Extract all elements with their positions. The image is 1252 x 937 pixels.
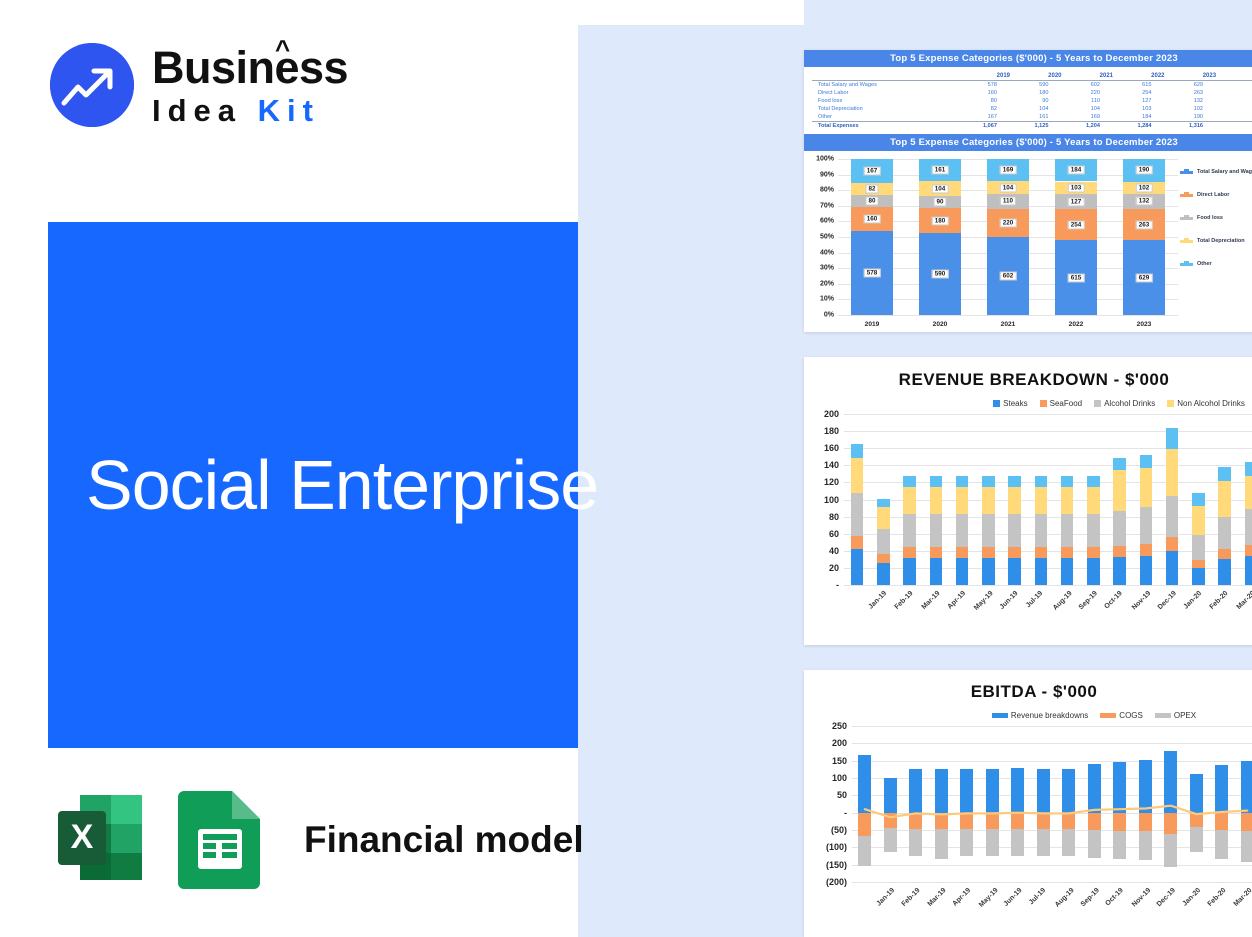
bar-data-label: 629 [1136, 273, 1153, 282]
ebitda-chart-legend: Revenue breakdownsCOGSOPEX [804, 711, 1252, 720]
legend-label: OPEX [1174, 711, 1196, 720]
bar-segment [956, 487, 969, 514]
bar-segment [1245, 462, 1252, 476]
y-axis-tick: 20% [820, 280, 834, 287]
bar-segment [903, 547, 916, 557]
bar-segment [877, 529, 890, 555]
bar-segment [884, 778, 897, 813]
x-axis-tick: Feb-20 [1209, 590, 1230, 611]
bar-data-label: 132 [1136, 197, 1153, 206]
x-axis-tick: Dec-19 [1156, 887, 1177, 908]
legend-swatch [1167, 400, 1174, 407]
x-axis-tick: Mar-20 [1232, 887, 1252, 908]
bar-data-label: 180 [932, 216, 949, 225]
x-axis-tick: Feb-19 [894, 590, 915, 611]
bar-segment [1140, 544, 1153, 556]
bar-segment [877, 563, 890, 585]
bar-segment [1166, 496, 1179, 537]
bar-segment [1218, 559, 1231, 585]
legend-swatch [1180, 240, 1193, 243]
bar-data-label: 167 [864, 167, 881, 176]
google-sheets-icon [176, 785, 268, 894]
table-row: Other 167 161 169 184 190 [812, 113, 1252, 122]
legend-item: SeaFood [1040, 399, 1082, 408]
bar-segment [1035, 547, 1048, 557]
expense-table-title: Top 5 Expense Categories ($'000) - 5 Yea… [804, 50, 1252, 67]
x-axis-tick: 2021 [1001, 321, 1016, 328]
bar-segment [1113, 458, 1126, 470]
revenue-chart-title: REVENUE BREAKDOWN - $'000 [804, 370, 1252, 390]
y-axis-tick: 200 [824, 409, 839, 419]
bar-segment [1011, 829, 1024, 856]
bar-segment [1035, 558, 1048, 585]
poster-canvas: Business ^ Idea Kit Social Enterprise X [0, 0, 1252, 937]
col-2023: 2023 [1165, 72, 1217, 81]
legend-swatch [1180, 171, 1193, 174]
bar-segment [1088, 830, 1101, 858]
x-axis-tick: Oct-19 [1104, 590, 1124, 610]
bar-column: 629263132102190 [1123, 159, 1165, 315]
bar-segment [935, 769, 948, 813]
bar-segment [1192, 560, 1205, 568]
bar-column [1166, 414, 1179, 585]
bar-data-label: 127 [1068, 197, 1085, 206]
bar-segment [1166, 428, 1179, 449]
x-axis-tick: Mar-20 [1235, 590, 1252, 611]
bar-segment [1192, 568, 1205, 585]
page-title: Social Enterprise [48, 445, 598, 525]
bar-data-label: 220 [1000, 218, 1017, 227]
bar-segment [930, 547, 943, 557]
bar-segment [877, 499, 890, 508]
legend-item: Total Salary and Wages [1180, 169, 1252, 175]
x-axis-tick: 2023 [1137, 321, 1152, 328]
y-axis-tick: 0% [824, 312, 834, 319]
x-axis-tick: Sep-19 [1078, 590, 1099, 611]
legend-swatch [1180, 194, 1193, 197]
bar-segment [1037, 813, 1050, 830]
bar-segment [1166, 449, 1179, 496]
bar-segment [956, 514, 969, 547]
bar-segment [851, 458, 864, 493]
bar-segment [930, 558, 943, 585]
bar-data-label: 103 [1068, 183, 1085, 192]
logo-idea-text: Idea [152, 93, 242, 128]
ebitda-line [804, 720, 1252, 926]
ebitda-card: EBITDA - $'000 Revenue breakdownsCOGSOPE… [804, 670, 1252, 937]
x-axis-tick: Jun-19 [1003, 887, 1024, 908]
bar-segment [1190, 774, 1203, 813]
x-axis-tick: Aug-19 [1052, 590, 1074, 612]
svg-text:X: X [71, 818, 94, 856]
bar-segment [858, 755, 871, 812]
logo-kit-text: Kit [258, 93, 320, 128]
bar-data-label: 90 [933, 197, 946, 206]
legend-label: Steaks [1003, 399, 1027, 408]
bar-segment [956, 476, 969, 486]
gridline [844, 585, 1252, 586]
legend-label: Total Depreciation [1197, 238, 1245, 244]
bar-segment [1008, 547, 1021, 557]
bar-data-label: 80 [865, 197, 878, 206]
y-axis-tick: 60 [829, 529, 839, 539]
bar-segment [956, 558, 969, 585]
y-axis-tick: 120 [824, 477, 839, 487]
bar-segment [1008, 487, 1021, 514]
bar-segment [1113, 762, 1126, 812]
legend-label: Revenue breakdowns [1011, 711, 1088, 720]
bar-segment [1215, 813, 1228, 830]
y-axis-tick: 100 [824, 495, 839, 505]
bar-data-label: 104 [1000, 183, 1017, 192]
trend-up-chart-icon [50, 43, 134, 127]
bar-segment [1166, 551, 1179, 585]
bar-segment [930, 487, 943, 514]
bar-segment [1037, 829, 1050, 856]
bar-segment [982, 514, 995, 547]
table-row: Total Salary and Wages 578 590 602 615 6… [812, 81, 1252, 90]
y-axis-tick: 50 [837, 790, 847, 800]
bar-data-label: 190 [1136, 166, 1153, 175]
x-axis-tick: Mar-19 [920, 590, 941, 611]
bar-segment [1190, 827, 1203, 852]
x-axis-tick: Jan-19 [875, 887, 896, 908]
white-notch [578, 0, 804, 25]
bar-segment [1087, 476, 1100, 486]
hero-title-block: Social Enterprise [48, 222, 578, 748]
y-axis-tick: (150) [826, 860, 847, 870]
bar-column: 59018090104161 [919, 159, 961, 315]
bar-data-label: 160 [864, 214, 881, 223]
bar-column [1113, 414, 1126, 585]
y-axis-tick: 80 [829, 512, 839, 522]
bar-segment [982, 476, 995, 486]
y-axis-tick: 100% [816, 156, 834, 163]
expense-table-wrapper: 2019 2020 2021 2022 2023 Total Salary an… [804, 67, 1252, 132]
x-axis-tick: Feb-19 [901, 887, 922, 908]
bar-segment [1215, 830, 1228, 859]
bar-column [1061, 414, 1074, 585]
y-axis-tick: 40% [820, 249, 834, 256]
bar-data-label: 602 [1000, 272, 1017, 281]
x-axis-tick: 2020 [933, 321, 948, 328]
x-axis-tick: 2022 [1069, 321, 1084, 328]
legend-swatch [1180, 217, 1193, 220]
x-axis-tick: Nov-19 [1130, 590, 1151, 611]
x-axis-tick: 2019 [865, 321, 880, 328]
x-axis-tick: Aug-19 [1054, 887, 1076, 909]
bar-segment [1062, 813, 1075, 830]
legend-swatch [1094, 400, 1101, 407]
bar-data-label: 615 [1068, 273, 1085, 282]
bar-segment [982, 487, 995, 514]
col-2022: 2022 [1113, 72, 1165, 81]
bar-segment [1087, 558, 1100, 585]
y-axis-tick: (100) [826, 842, 847, 852]
legend-label: Non Alcohol Drinks [1177, 399, 1245, 408]
bar-segment [1245, 476, 1252, 509]
bar-segment [982, 547, 995, 557]
bar-column [1245, 414, 1252, 585]
legend-item: Total Depreciation [1180, 238, 1252, 244]
y-axis-tick: 10% [820, 296, 834, 303]
bar-segment [1061, 487, 1074, 514]
x-axis-tick: Jul-19 [1028, 887, 1047, 906]
bar-segment [1140, 455, 1153, 468]
bar-segment [1061, 514, 1074, 547]
bar-data-label: 169 [1000, 165, 1017, 174]
legend-item: Revenue breakdowns [992, 711, 1088, 720]
table-row: Total Depreciation 82 104 104 103 102 [812, 105, 1252, 113]
bar-column [877, 414, 890, 585]
legend-item: Steaks [993, 399, 1027, 408]
x-axis-tick: Jan-20 [1181, 887, 1202, 908]
y-axis-tick: 20 [829, 563, 839, 573]
bar-segment [960, 829, 973, 856]
x-axis-tick: Oct-19 [1105, 887, 1125, 907]
y-axis-tick: 200 [832, 738, 847, 748]
bar-segment [877, 554, 890, 563]
bar-segment [1087, 487, 1100, 514]
expense-chart-title: Top 5 Expense Categories ($'000) - 5 Yea… [804, 134, 1252, 151]
y-axis-tick: 90% [820, 171, 834, 178]
y-axis-tick: 80% [820, 187, 834, 194]
logo-wordmark-line1: Business ^ [152, 45, 348, 90]
bar-segment [960, 769, 973, 813]
bar-segment [1166, 537, 1179, 551]
bar-segment [903, 487, 916, 514]
bar-segment [1061, 547, 1074, 557]
bar-segment [986, 829, 999, 856]
bar-segment [851, 549, 864, 585]
legend-label: Alcohol Drinks [1104, 399, 1155, 408]
bar-segment [960, 813, 973, 830]
bar-column [982, 414, 995, 585]
legend-swatch [992, 713, 1008, 718]
bar-segment [1190, 813, 1203, 828]
legend-item: Other [1180, 261, 1252, 267]
bar-segment [909, 829, 922, 856]
gridline [852, 761, 1252, 762]
x-axis-tick: Sep-19 [1079, 887, 1100, 908]
format-label: Financial model [304, 819, 584, 861]
bar-segment [935, 813, 948, 830]
bar-column [1218, 414, 1231, 585]
bar-segment [1113, 546, 1126, 557]
y-axis-tick: 40 [829, 546, 839, 556]
bar-column [1035, 414, 1048, 585]
bar-segment [851, 444, 864, 458]
legend-label: Other [1197, 261, 1212, 267]
x-axis-tick: Apr-19 [952, 887, 973, 908]
bar-segment [986, 769, 999, 813]
bar-column: 615254127103184 [1055, 159, 1097, 315]
bar-segment [858, 836, 871, 867]
y-axis-tick: 50% [820, 234, 834, 241]
y-axis-tick: - [844, 808, 847, 818]
expense-stacked-bar-chart: 0%10%20%30%40%50%60%70%80%90%100%5781608… [804, 151, 1252, 332]
bar-segment [1113, 813, 1126, 831]
bar-segment [1008, 558, 1021, 585]
bar-segment [1061, 558, 1074, 585]
x-axis-tick: Feb-20 [1207, 887, 1228, 908]
bar-data-label: 184 [1068, 166, 1085, 175]
y-axis-tick: 180 [824, 426, 839, 436]
x-axis-tick: Mar-19 [926, 887, 947, 908]
logo-circumflex-icon: ^ [275, 36, 290, 62]
gridline [852, 743, 1252, 744]
bar-segment [930, 514, 943, 547]
bar-segment [1192, 493, 1205, 506]
legend-item: Alcohol Drinks [1094, 399, 1155, 408]
excel-file-icon: X [50, 785, 154, 894]
legend-swatch [1180, 263, 1193, 266]
expense-report-card: Top 5 Expense Categories ($'000) - 5 Yea… [804, 50, 1252, 332]
bar-data-label: 110 [1000, 197, 1016, 206]
bar-segment [1140, 468, 1153, 507]
x-axis-tick: May-19 [973, 590, 995, 612]
y-axis-tick: 250 [832, 721, 847, 731]
bar-segment [1139, 760, 1152, 813]
ebitda-combo-chart: (200)(150)(100)(50)-50100150200250Jan-19… [804, 720, 1252, 926]
bar-segment [1113, 831, 1126, 859]
ebitda-chart-title: EBITDA - $'000 [804, 682, 1252, 702]
logo-wordmark-line2: Idea Kit [152, 95, 348, 126]
legend-item: Direct Labor [1180, 192, 1252, 198]
bar-segment [1113, 511, 1126, 546]
bar-segment [1087, 547, 1100, 557]
format-badge-row: X Financial model [50, 785, 584, 894]
bar-segment [1062, 829, 1075, 856]
bar-segment [1113, 557, 1126, 585]
bar-segment [1011, 813, 1024, 830]
brand-logo: Business ^ Idea Kit [50, 43, 348, 127]
x-axis-tick: Jun-19 [999, 590, 1020, 611]
legend-label: SeaFood [1050, 399, 1082, 408]
bar-column [1140, 414, 1153, 585]
y-axis-tick: 160 [824, 443, 839, 453]
expense-chart-legend: Total Salary and WagesDirect LaborFood l… [1180, 169, 1252, 284]
legend-item: Non Alcohol Drinks [1167, 399, 1245, 408]
x-axis-tick: Jul-19 [1025, 590, 1044, 609]
legend-label: COGS [1119, 711, 1143, 720]
bar-segment [1139, 831, 1152, 860]
bar-segment [1008, 476, 1021, 486]
x-axis-tick: May-19 [978, 887, 1000, 909]
legend-item: COGS [1100, 711, 1143, 720]
bar-segment [1164, 813, 1177, 834]
bar-segment [858, 813, 871, 836]
col-2019: 2019 [959, 72, 1011, 81]
bar-segment [1035, 476, 1048, 486]
bar-segment [903, 514, 916, 547]
bar-segment [1087, 514, 1100, 547]
gridline [838, 315, 1178, 316]
bar-segment [1008, 514, 1021, 547]
bar-segment [1061, 476, 1074, 486]
bar-segment [1164, 751, 1177, 813]
bar-segment [1140, 507, 1153, 544]
table-total-row: Total Expenses 1,067 1,125 1,204 1,284 1… [812, 122, 1252, 131]
y-axis-tick: 100 [832, 773, 847, 783]
bar-column: 602220110104169 [987, 159, 1029, 315]
bar-segment [909, 813, 922, 830]
col-2021: 2021 [1062, 72, 1114, 81]
y-axis-tick: 140 [824, 460, 839, 470]
gridline [852, 865, 1252, 866]
bar-segment [851, 493, 864, 537]
x-axis-tick: Jan-20 [1183, 590, 1204, 611]
bar-data-label: 104 [932, 184, 949, 193]
bar-segment [1218, 549, 1231, 559]
table-header-row: 2019 2020 2021 2022 2023 [812, 72, 1252, 81]
bar-segment [903, 476, 916, 486]
bar-column [956, 414, 969, 585]
legend-swatch [1155, 713, 1171, 718]
bar-segment [1192, 506, 1205, 535]
gridline [852, 882, 1252, 883]
y-axis-tick: 70% [820, 202, 834, 209]
bar-data-label: 590 [932, 270, 949, 279]
y-axis-tick: 30% [820, 265, 834, 272]
bar-segment [935, 829, 948, 858]
y-axis-tick: (200) [826, 877, 847, 887]
y-axis-tick: 150 [832, 756, 847, 766]
y-axis-tick: - [836, 580, 839, 590]
bar-data-label: 263 [1136, 220, 1153, 229]
revenue-stacked-bar-chart: -20406080100120140160180200Jan-19Feb-19M… [804, 408, 1252, 633]
legend-swatch [993, 400, 1000, 407]
y-axis-tick: (50) [831, 825, 847, 835]
bar-segment [982, 558, 995, 585]
bar-segment [1062, 769, 1075, 813]
bar-segment [1192, 535, 1205, 561]
x-axis-tick: Jan-19 [868, 590, 889, 611]
bar-column: 5781608082167 [851, 159, 893, 315]
bar-segment [930, 476, 943, 486]
bar-segment [877, 507, 890, 528]
legend-label: Food loss [1197, 215, 1223, 221]
logo-business-text: Business [152, 42, 348, 93]
legend-swatch [1100, 713, 1116, 718]
bar-column [1087, 414, 1100, 585]
x-axis-tick: Nov-19 [1131, 887, 1152, 908]
bar-segment [1241, 761, 1252, 813]
bar-segment [1139, 813, 1152, 832]
bar-segment [1218, 481, 1231, 517]
bar-segment [1035, 487, 1048, 514]
bar-segment [903, 558, 916, 585]
bar-segment [1245, 545, 1252, 556]
expense-table: 2019 2020 2021 2022 2023 Total Salary an… [812, 72, 1252, 130]
bar-segment [1245, 556, 1252, 585]
bar-data-label: 82 [865, 185, 878, 194]
bar-data-label: 161 [932, 166, 949, 175]
revenue-breakdown-card: REVENUE BREAKDOWN - $'000 SteaksSeaFoodA… [804, 357, 1252, 645]
bar-segment [1164, 834, 1177, 867]
bar-segment [1140, 556, 1153, 585]
bar-data-label: 102 [1136, 183, 1153, 192]
bar-segment [1215, 765, 1228, 813]
bar-column [930, 414, 943, 585]
bar-segment [1241, 813, 1252, 832]
bar-segment [1245, 509, 1252, 545]
table-row: Direct Labor 160 180 220 254 263 [812, 89, 1252, 97]
bar-segment [986, 813, 999, 830]
legend-item: OPEX [1155, 711, 1196, 720]
legend-swatch [1040, 400, 1047, 407]
bar-segment [884, 813, 897, 828]
